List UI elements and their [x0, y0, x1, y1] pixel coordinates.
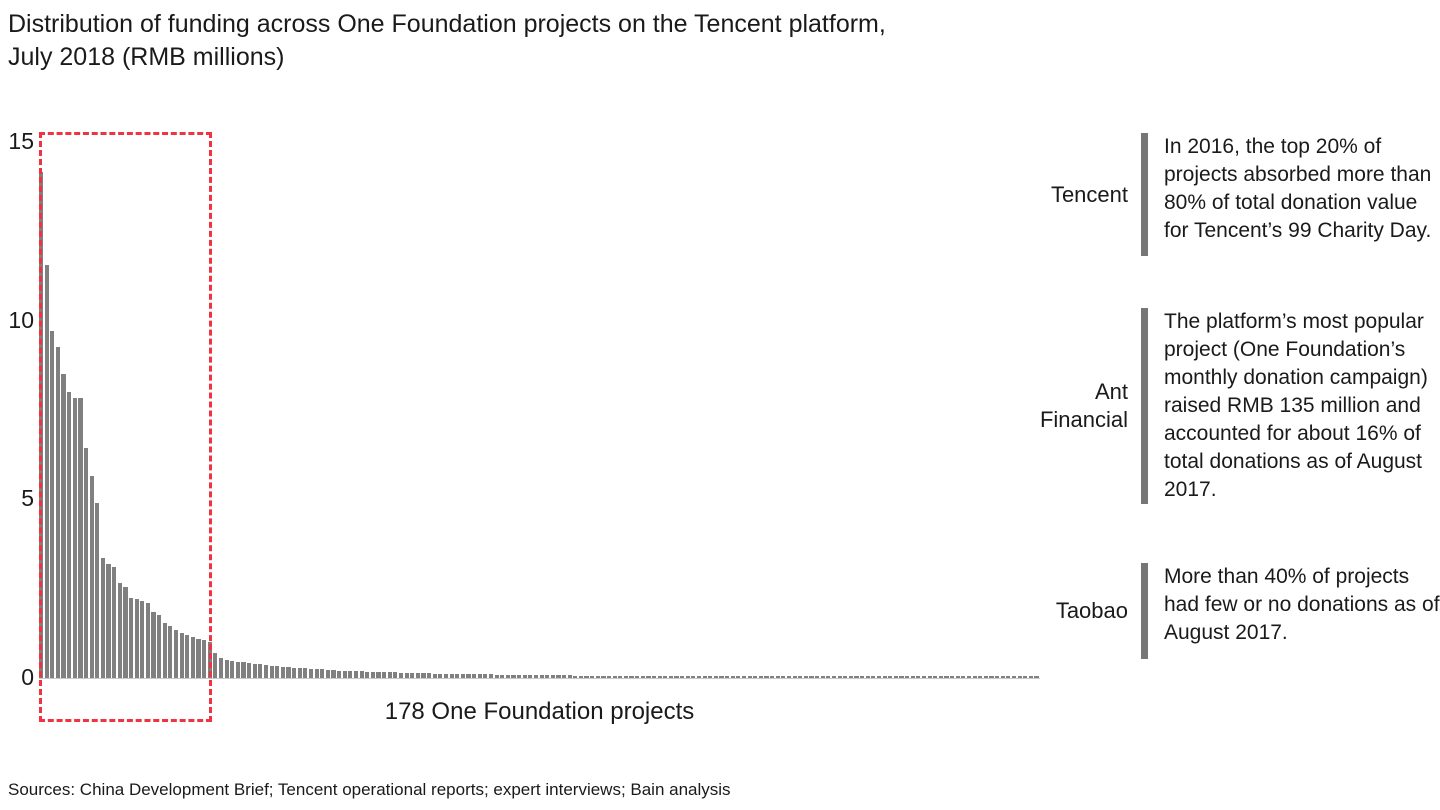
bar [219, 658, 223, 678]
annotation-text: More than 40% of projects had few or no … [1164, 563, 1440, 647]
annotation-label: AntFinancial [1010, 378, 1128, 434]
annotation-text: The platform’s most popular project (One… [1164, 308, 1440, 504]
x-axis-label: 178 One Foundation projects [39, 698, 1040, 726]
chart-area: 051015 178 One Foundation projects [0, 0, 1060, 810]
bar [270, 666, 274, 678]
y-axis-tick-10: 10 [4, 309, 34, 332]
bar [326, 670, 330, 678]
bar [348, 671, 352, 678]
bar [258, 664, 262, 678]
bar [320, 669, 324, 678]
annotation-item: TencentIn 2016, the top 20% of projects … [1010, 133, 1440, 256]
annotation-label: Taobao [1010, 597, 1128, 625]
y-axis-tick-0: 0 [4, 666, 34, 689]
highlight-box [39, 132, 212, 722]
source-note: Sources: China Development Brief; Tencen… [8, 780, 731, 800]
bar [236, 662, 240, 678]
bar [360, 671, 364, 678]
bar [213, 653, 217, 678]
bar [230, 661, 234, 678]
bar [241, 662, 245, 678]
bar [253, 664, 257, 678]
bar [309, 669, 313, 678]
y-axis-tick-15: 15 [4, 130, 34, 153]
bar [331, 670, 335, 678]
annotation-rule [1141, 308, 1148, 504]
y-axis-tick-5: 5 [4, 487, 34, 510]
bar [343, 671, 347, 678]
bar [292, 668, 296, 678]
bar [275, 666, 279, 678]
annotation-list: TencentIn 2016, the top 20% of projects … [1010, 0, 1440, 810]
bar [337, 671, 341, 679]
annotation-rule [1141, 133, 1148, 256]
annotation-label: Tencent [1010, 181, 1128, 209]
bar [247, 663, 251, 678]
bar [281, 667, 285, 678]
bar [303, 668, 307, 678]
bar [298, 668, 302, 678]
annotation-text: In 2016, the top 20% of projects absorbe… [1164, 133, 1440, 245]
annotation-rule [1141, 563, 1148, 659]
bar [354, 671, 358, 678]
y-axis: 051015 [0, 0, 34, 810]
bar [315, 669, 319, 678]
annotation-item: AntFinancialThe platform’s most popular … [1010, 308, 1440, 504]
annotation-item: TaobaoMore than 40% of projects had few … [1010, 563, 1440, 659]
bar [286, 667, 290, 678]
bar [264, 665, 268, 678]
bar [225, 660, 229, 678]
